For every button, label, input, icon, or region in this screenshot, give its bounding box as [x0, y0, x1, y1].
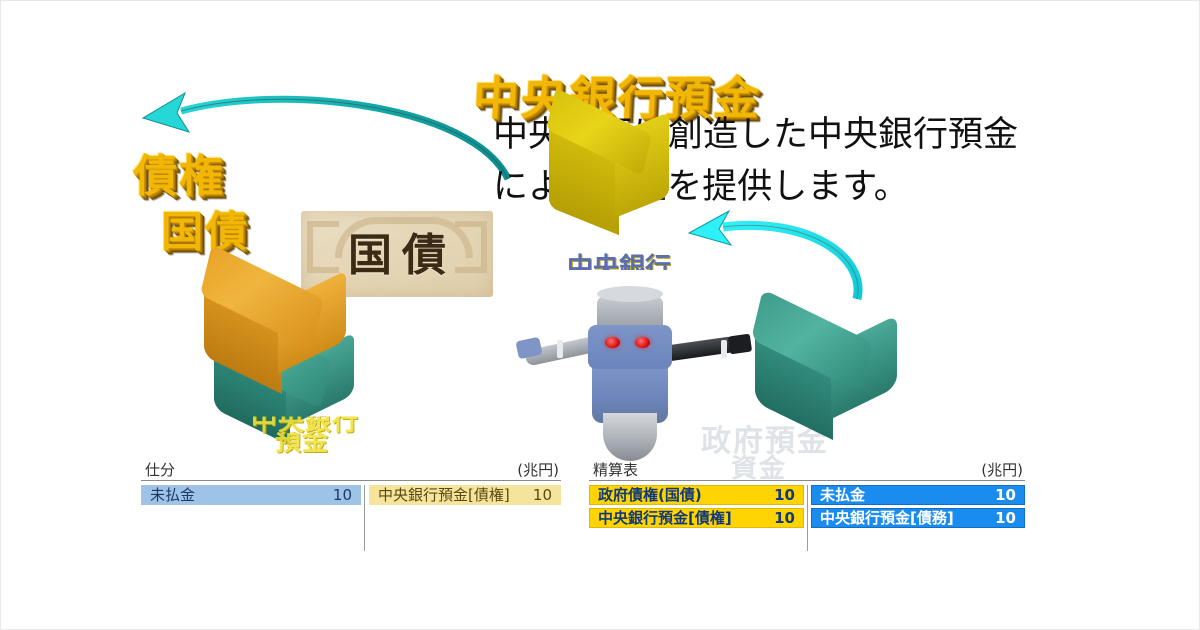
table-unit: (兆円) [517, 459, 559, 480]
row-label: 未払金 [150, 485, 195, 505]
row-label: 中央銀行預金[債権] [378, 485, 510, 505]
table-header: 精算表 (兆円) [589, 459, 1025, 481]
row-label: 中央銀行預金[債権] [598, 508, 732, 528]
liabilities-column: 未払金 10 中央銀行預金[債務] 10 [811, 485, 1025, 531]
debit-column: 未払金 10 [141, 485, 361, 508]
robot-eye-right [635, 337, 650, 348]
table-title: 仕分 [145, 459, 175, 480]
robot-arm-ring-right [721, 340, 727, 358]
credit-column: 中央銀行預金[債権] 10 [369, 485, 561, 508]
row-value: 10 [995, 485, 1016, 505]
settlement-table: 精算表 (兆円) 政府債権(国債) 10 中央銀行預金[債権] 10 未払金 1… [589, 459, 1025, 555]
robot-head-top [597, 286, 663, 302]
robot-eye-left [605, 337, 620, 348]
assets-column: 政府債権(国債) 10 中央銀行預金[債権] 10 [589, 485, 804, 531]
table-row: 中央銀行預金[債権] 10 [589, 508, 804, 528]
column-divider [364, 485, 365, 551]
table-title: 精算表 [593, 459, 638, 480]
header-rule [141, 480, 561, 481]
yellow-cube [549, 109, 669, 227]
robot-hand-right [728, 334, 752, 355]
row-label: 未払金 [820, 485, 865, 505]
row-label: 中央銀行預金[債務] [820, 508, 954, 528]
row-value: 10 [995, 508, 1016, 528]
slide-canvas: 中央銀行預金 債権 国債 中央銀行は創造した中央銀行預金 により資金を提供します… [0, 0, 1200, 630]
row-value: 10 [774, 508, 795, 528]
robot-face [588, 325, 672, 369]
table-row: 中央銀行預金[債務] 10 [811, 508, 1025, 528]
header-rule [589, 480, 1025, 481]
teal-cube-right [753, 313, 893, 435]
label-saiken: 債権 [133, 153, 225, 201]
curved-arrow-up-left-icon [685, 203, 915, 323]
row-value: 10 [333, 485, 352, 505]
row-value: 10 [533, 485, 552, 505]
row-label: 政府債権(国債) [598, 485, 702, 505]
table-row: 政府債権(国債) 10 [589, 485, 804, 505]
table-unit: (兆円) [981, 459, 1023, 480]
table-header: 仕分 (兆円) [141, 459, 561, 481]
ghost-label-robot-cube: 中央銀行 [567, 247, 671, 284]
table-row: 未払金 10 [141, 485, 361, 505]
robot-arm-ring-left [557, 340, 563, 358]
table-row: 中央銀行預金[債権] 10 [369, 485, 561, 505]
table-row: 未払金 10 [811, 485, 1025, 505]
central-bank-robot [561, 291, 701, 461]
column-divider [807, 485, 808, 551]
row-value: 10 [774, 485, 795, 505]
journal-entry-table: 仕分 (兆円) 未払金 10 中央銀行預金[債権] 10 [141, 459, 561, 555]
label-kokusai: 国債 [161, 209, 249, 255]
gold-cube [206, 269, 346, 387]
robot-base [603, 413, 657, 461]
